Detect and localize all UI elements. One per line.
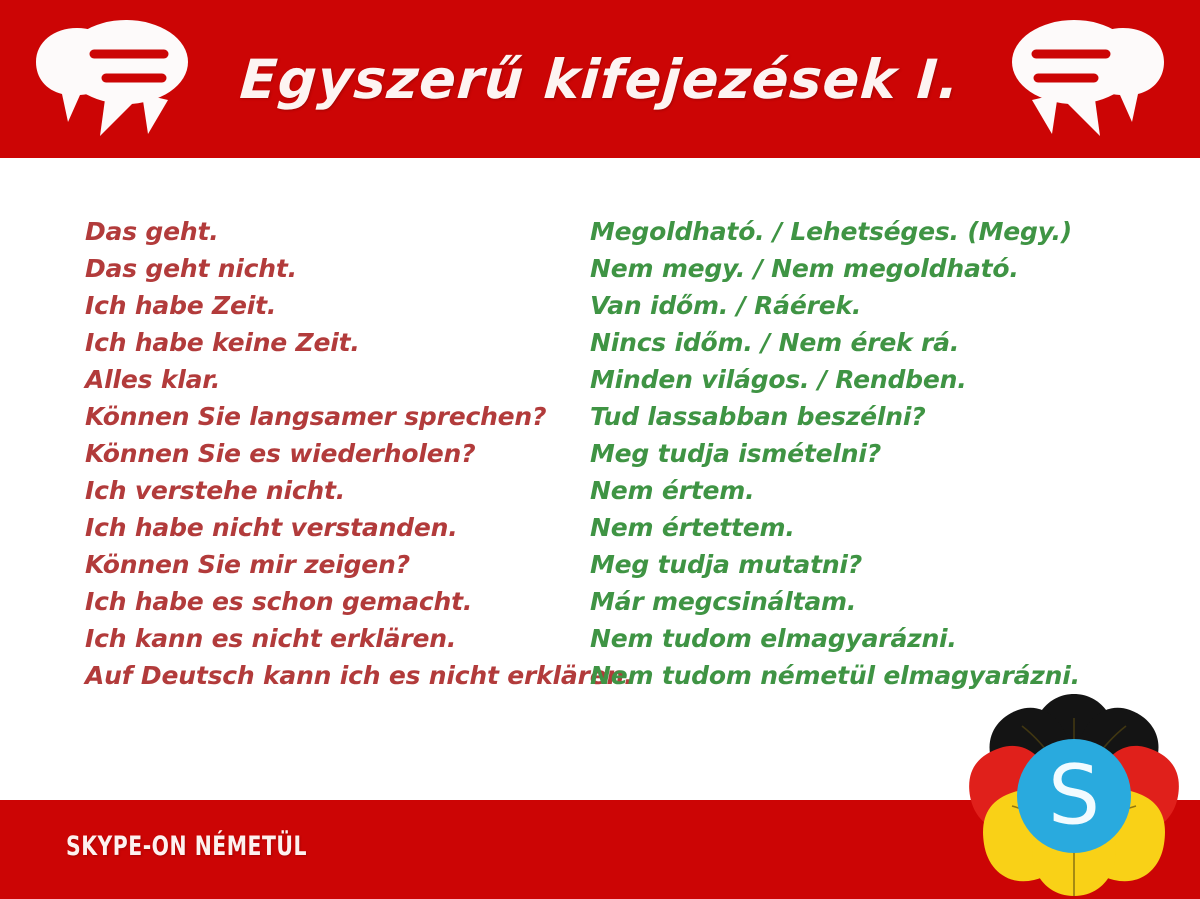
german-phrase-column: Das geht. Das geht nicht. Ich habe Zeit.… — [0, 213, 590, 694]
skype-german-flower-logo: S — [948, 688, 1200, 899]
phrase-row-hungarian: Nem értem. — [590, 472, 1200, 509]
phrase-row-hungarian: Nincs időm. / Nem érek rá. — [590, 324, 1200, 361]
phrase-row-hungarian: Tud lassabban beszélni? — [590, 398, 1200, 435]
speech-bubbles-icon — [998, 14, 1178, 146]
phrase-row-hungarian: Minden világos. / Rendben. — [590, 361, 1200, 398]
phrase-row-german: Können Sie mir zeigen? — [85, 546, 590, 583]
brand-name: SKYPE-ON NÉMETÜL — [66, 831, 307, 862]
phrase-row-german: Auf Deutsch kann ich es nicht erklären. — [85, 657, 590, 694]
phrase-row-hungarian: Van időm. / Ráérek. — [590, 287, 1200, 324]
phrase-row-hungarian: Meg tudja ismételni? — [590, 435, 1200, 472]
phrase-row-hungarian: Nem megy. / Nem megoldható. — [590, 250, 1200, 287]
phrase-row-german: Das geht. — [85, 213, 590, 250]
phrase-row-german: Ich habe nicht verstanden. — [85, 509, 590, 546]
phrase-row-hungarian: Nem tudom elmagyarázni. — [590, 620, 1200, 657]
skype-letter: S — [1048, 749, 1100, 844]
phrase-row-german: Können Sie langsamer sprechen? — [85, 398, 590, 435]
phrase-row-hungarian: Meg tudja mutatni? — [590, 546, 1200, 583]
phrase-row-german: Ich verstehe nicht. — [85, 472, 590, 509]
phrase-row-german: Ich habe Zeit. — [85, 287, 590, 324]
phrase-row-german: Alles klar. — [85, 361, 590, 398]
hungarian-phrase-column: Megoldható. / Lehetséges. (Megy.) Nem me… — [590, 213, 1200, 694]
phrase-row-german: Können Sie es wiederholen? — [85, 435, 590, 472]
phrase-row-german: Ich habe es schon gemacht. — [85, 583, 590, 620]
phrase-row-hungarian: Megoldható. / Lehetséges. (Megy.) — [590, 213, 1200, 250]
phrase-row-german: Das geht nicht. — [85, 250, 590, 287]
poster: Egyszerű kifejezések I. Das geht. Das ge… — [0, 0, 1200, 899]
phrase-row-german: Ich habe keine Zeit. — [85, 324, 590, 361]
phrase-row-hungarian: Nem értettem. — [590, 509, 1200, 546]
phrase-row-german: Ich kann es nicht erklären. — [85, 620, 590, 657]
phrase-row-hungarian: Már megcsináltam. — [590, 583, 1200, 620]
